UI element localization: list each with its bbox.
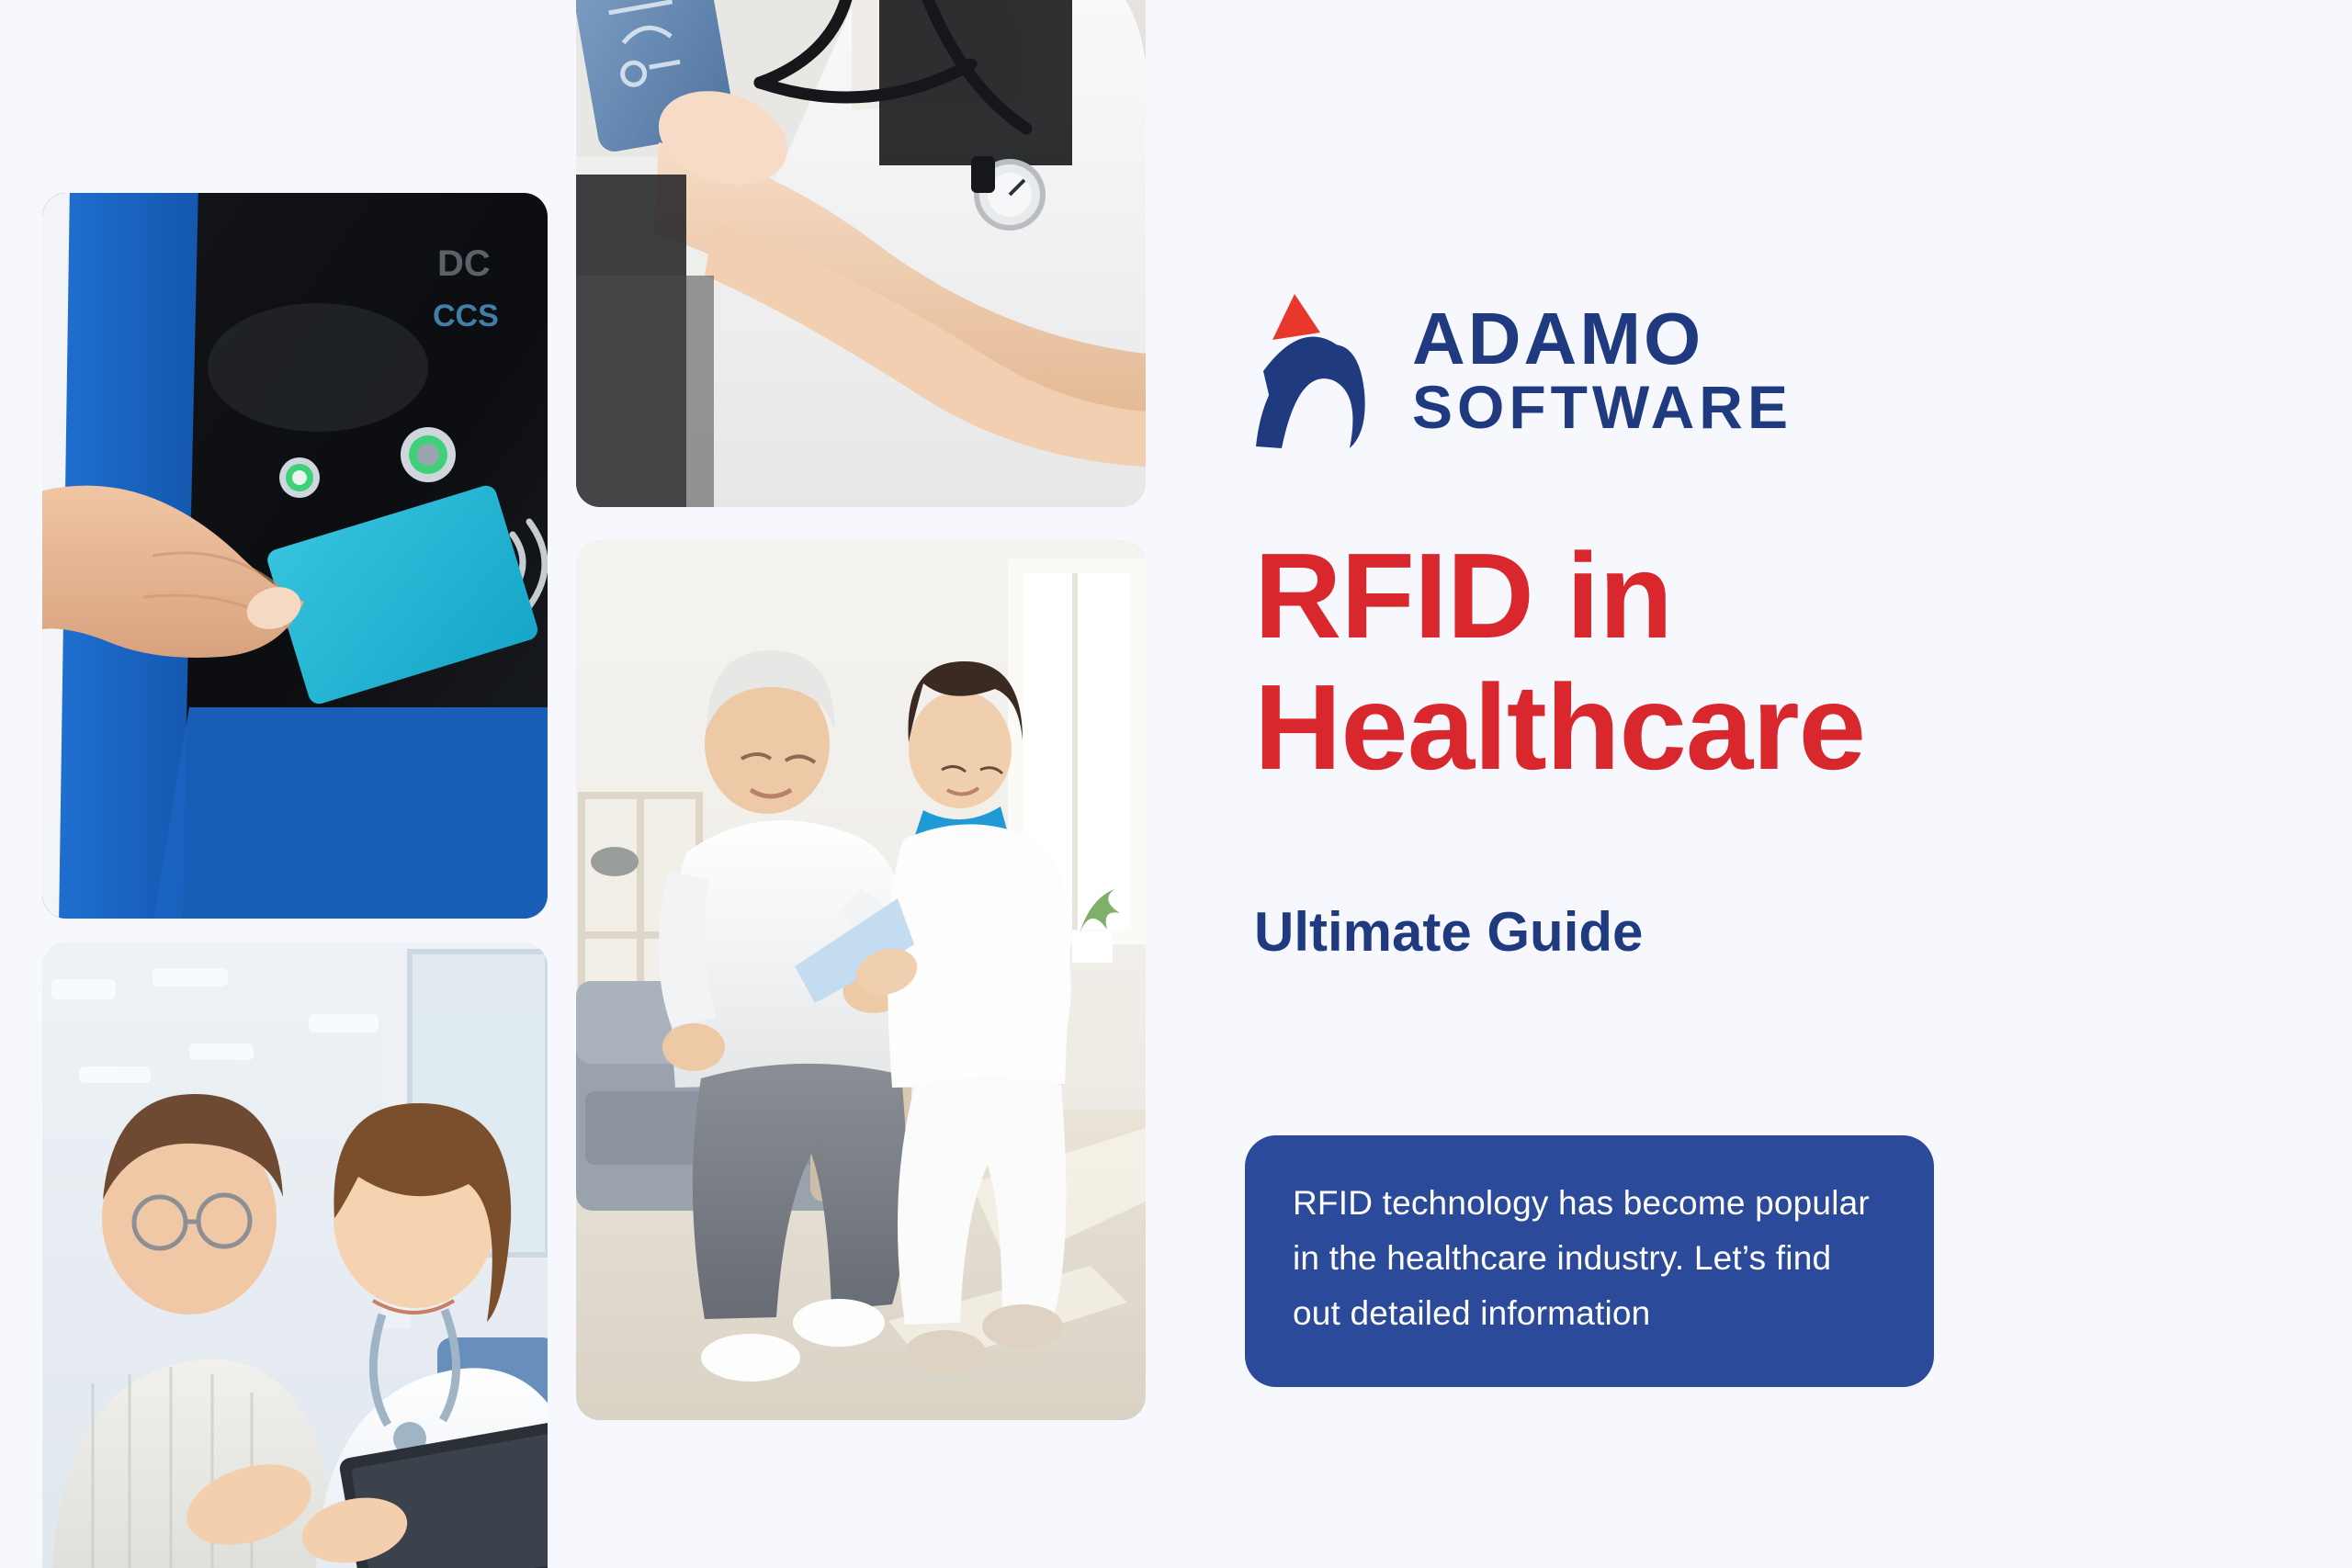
page-subtitle: Ultimate Guide [1254, 900, 1643, 964]
brand-wordmark: ADAMO SOFTWARE [1412, 305, 1792, 435]
photo-nurse-walk [576, 540, 1146, 1420]
page-title: RFID inHealthcare [1254, 531, 2228, 793]
svg-text:CCS: CCS [433, 299, 499, 333]
photo-blood-pressure [576, 0, 1146, 507]
adamo-logo-mark-icon [1254, 292, 1375, 448]
page-title-line-2: Healthcare [1254, 660, 1865, 795]
brand-suffix: SOFTWARE [1412, 379, 1792, 435]
brand-logo: ADAMO SOFTWARE [1254, 292, 1792, 448]
page-title-line-1: RFID in [1254, 528, 1672, 663]
brand-name: ADAMO [1412, 305, 1792, 373]
svg-text:DC: DC [437, 243, 491, 284]
photo-rfid-card: DC CCS [42, 193, 548, 919]
hero-panel: ADAMO SOFTWARE RFID inHealthcare Ultimat… [1245, 0, 2301, 1568]
cover-page: DC CCS [0, 0, 2352, 1568]
photo-doctor-tablet [42, 942, 548, 1568]
description-callout: RFID technology has become popular in th… [1245, 1135, 1934, 1387]
